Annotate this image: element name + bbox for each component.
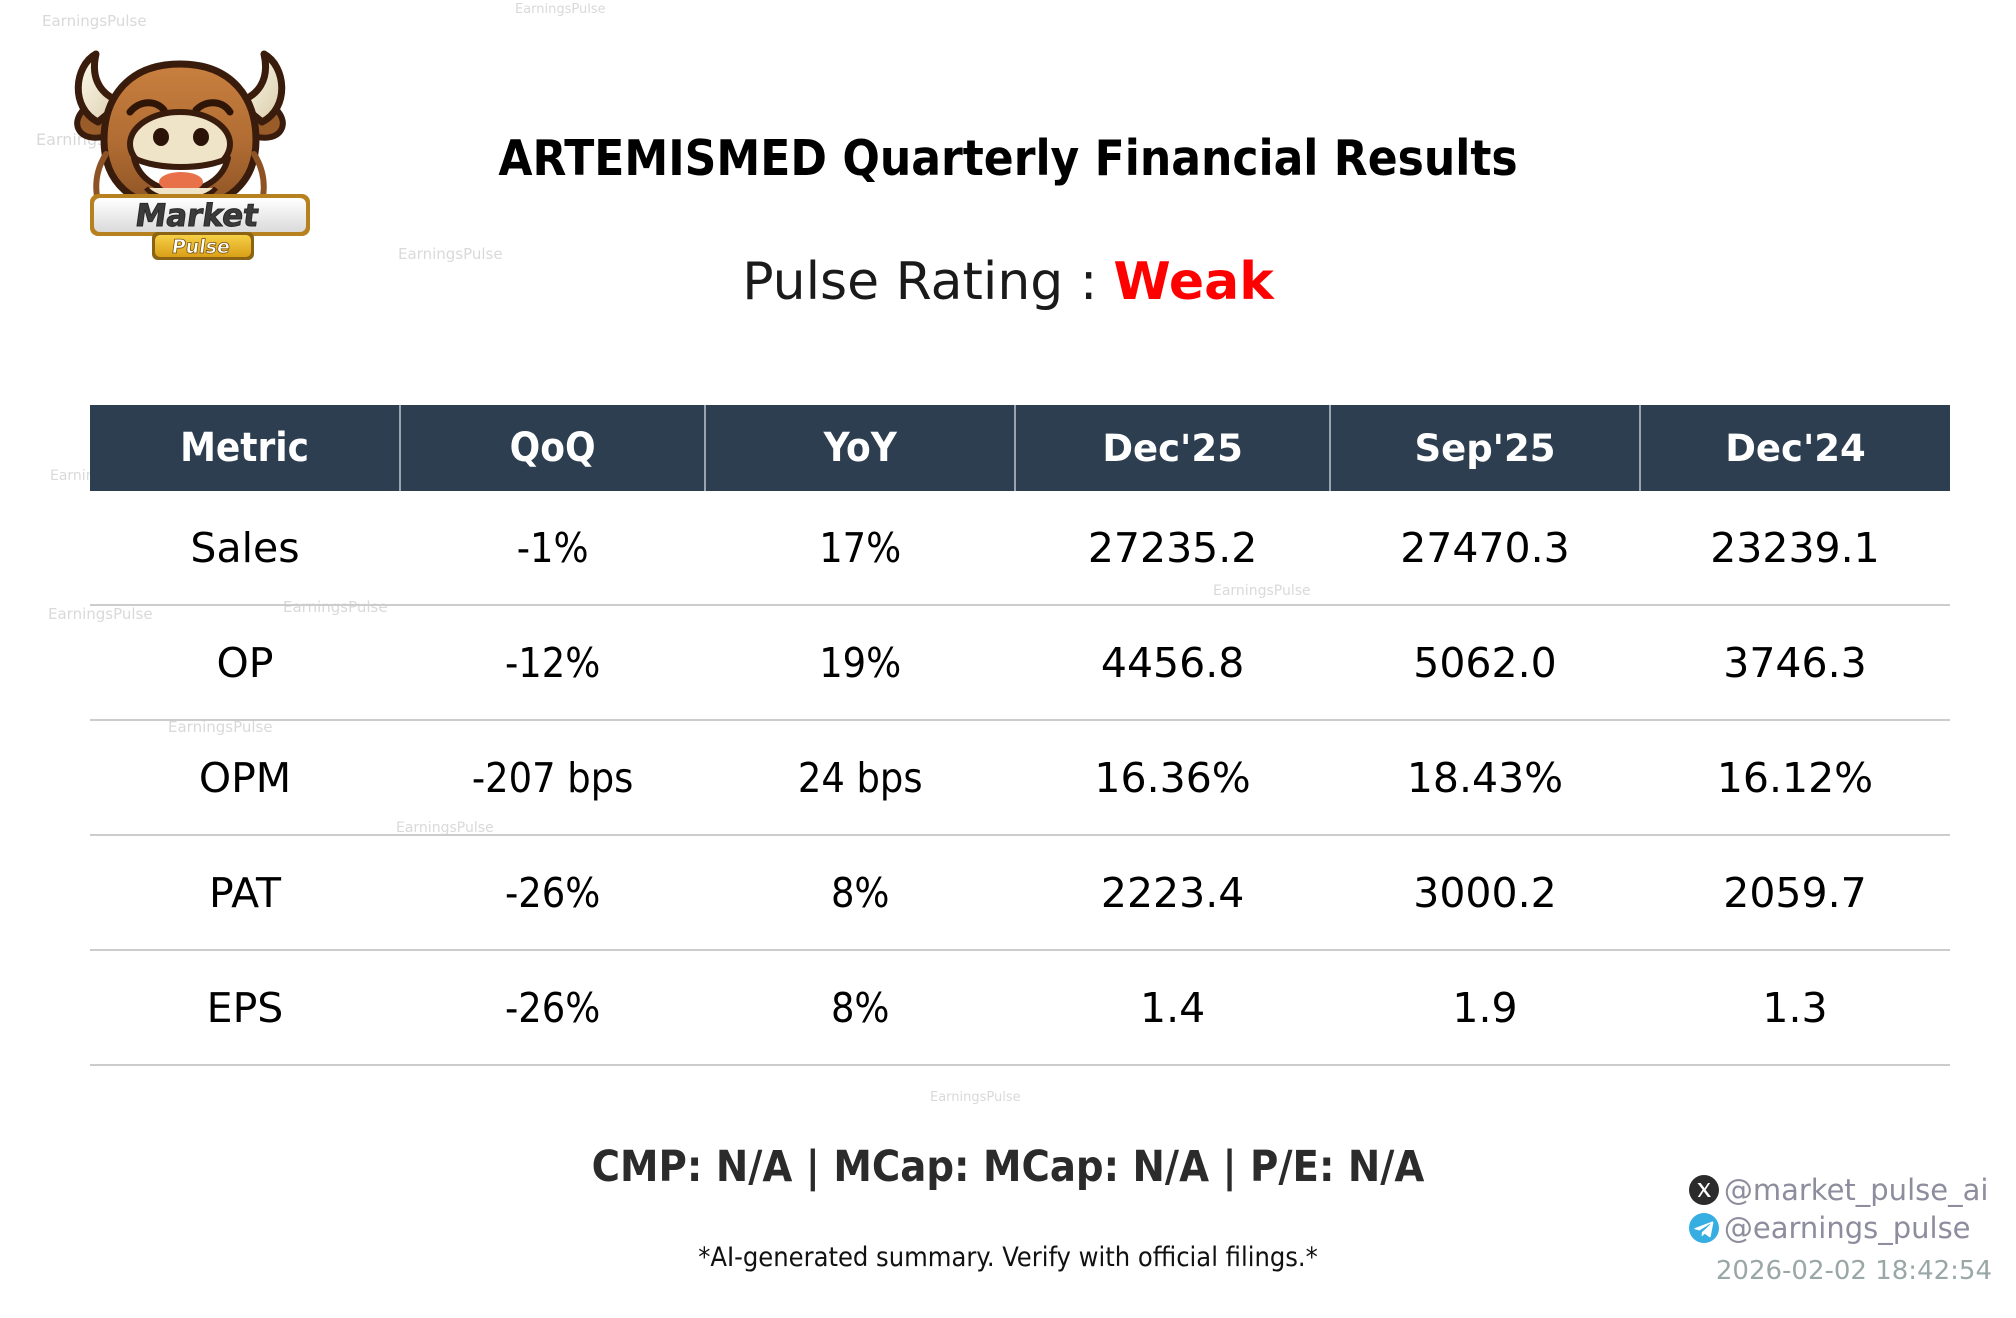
telegram-icon bbox=[1688, 1212, 1720, 1244]
cell-prev-quarter: 5062.0 bbox=[1330, 605, 1640, 720]
disclaimer-text: *AI-generated summary. Verify with offic… bbox=[0, 1242, 2016, 1273]
table-row: OPM-207 bps24 bps16.36%18.43%16.12% bbox=[90, 720, 1950, 835]
cell-qoq: -26% bbox=[400, 835, 705, 950]
x-twitter-icon bbox=[1688, 1174, 1720, 1206]
cell-qoq: -1% bbox=[400, 491, 705, 605]
cell-prev-quarter: 18.43% bbox=[1330, 720, 1640, 835]
cell-prev-quarter: 3000.2 bbox=[1330, 835, 1640, 950]
cell-prev-year: 23239.1 bbox=[1640, 491, 1950, 605]
table-header-cell-metric: Metric bbox=[90, 405, 400, 491]
page-title: ARTEMISMED Quarterly Financial Results bbox=[0, 130, 2016, 187]
cell-yoy: 19% bbox=[705, 605, 1015, 720]
cell-prev-year: 2059.7 bbox=[1640, 835, 1950, 950]
table-header-row: MetricQoQYoYDec'25Sep'25Dec'24 bbox=[90, 405, 1950, 491]
cell-prev-year: 3746.3 bbox=[1640, 605, 1950, 720]
table-body: Sales-1%17%27235.227470.323239.1OP-12%19… bbox=[90, 491, 1950, 1065]
cell-qoq: -26% bbox=[400, 950, 705, 1065]
cell-metric: OP bbox=[90, 605, 400, 720]
cell-current-quarter: 4456.8 bbox=[1015, 605, 1330, 720]
table-row: PAT-26%8%2223.43000.22059.7 bbox=[90, 835, 1950, 950]
financial-results-table: MetricQoQYoYDec'25Sep'25Dec'24 Sales-1%1… bbox=[90, 405, 1950, 1066]
cell-current-quarter: 2223.4 bbox=[1015, 835, 1330, 950]
table-header-cell-dec-25: Dec'25 bbox=[1015, 405, 1330, 491]
cell-metric: PAT bbox=[90, 835, 400, 950]
pulse-rating-label: Pulse Rating : bbox=[742, 252, 1097, 312]
cell-yoy: 17% bbox=[705, 491, 1015, 605]
cell-prev-year: 16.12% bbox=[1640, 720, 1950, 835]
table-row: EPS-26%8%1.41.91.3 bbox=[90, 950, 1950, 1065]
cell-prev-year: 1.3 bbox=[1640, 950, 1950, 1065]
cell-prev-quarter: 27470.3 bbox=[1330, 491, 1640, 605]
table-header-cell-yoy: YoY bbox=[705, 405, 1015, 491]
watermark-text: EarningsPulse bbox=[42, 12, 147, 30]
cell-yoy: 24 bps bbox=[705, 720, 1015, 835]
pulse-rating-value: Weak bbox=[1113, 252, 1273, 312]
cell-current-quarter: 27235.2 bbox=[1015, 491, 1330, 605]
social-row-x[interactable]: @market_pulse_ai bbox=[1688, 1172, 1992, 1208]
pulse-rating-line: Pulse Rating :Weak bbox=[0, 252, 2016, 312]
cell-prev-quarter: 1.9 bbox=[1330, 950, 1640, 1065]
cell-metric: OPM bbox=[90, 720, 400, 835]
table-header-cell-qoq: QoQ bbox=[400, 405, 705, 491]
watermark-text: EarningsPulse bbox=[930, 1090, 1021, 1105]
cell-qoq: -207 bps bbox=[400, 720, 705, 835]
table-header-cell-sep-25: Sep'25 bbox=[1330, 405, 1640, 491]
table-row: OP-12%19%4456.85062.03746.3 bbox=[90, 605, 1950, 720]
cell-current-quarter: 1.4 bbox=[1015, 950, 1330, 1065]
table-header-cell-dec-24: Dec'24 bbox=[1640, 405, 1950, 491]
cell-yoy: 8% bbox=[705, 835, 1015, 950]
cell-current-quarter: 16.36% bbox=[1015, 720, 1330, 835]
cell-metric: EPS bbox=[90, 950, 400, 1065]
cell-yoy: 8% bbox=[705, 950, 1015, 1065]
social-row-telegram[interactable]: @earnings_pulse bbox=[1688, 1210, 1992, 1246]
cell-qoq: -12% bbox=[400, 605, 705, 720]
watermark-text: EarningsPulse bbox=[515, 2, 606, 17]
table-row: Sales-1%17%27235.227470.323239.1 bbox=[90, 491, 1950, 605]
x-handle-text: @market_pulse_ai bbox=[1724, 1176, 1989, 1205]
logo-word-market: Market bbox=[133, 198, 261, 234]
cell-metric: Sales bbox=[90, 491, 400, 605]
telegram-handle-text: @earnings_pulse bbox=[1724, 1214, 1971, 1243]
